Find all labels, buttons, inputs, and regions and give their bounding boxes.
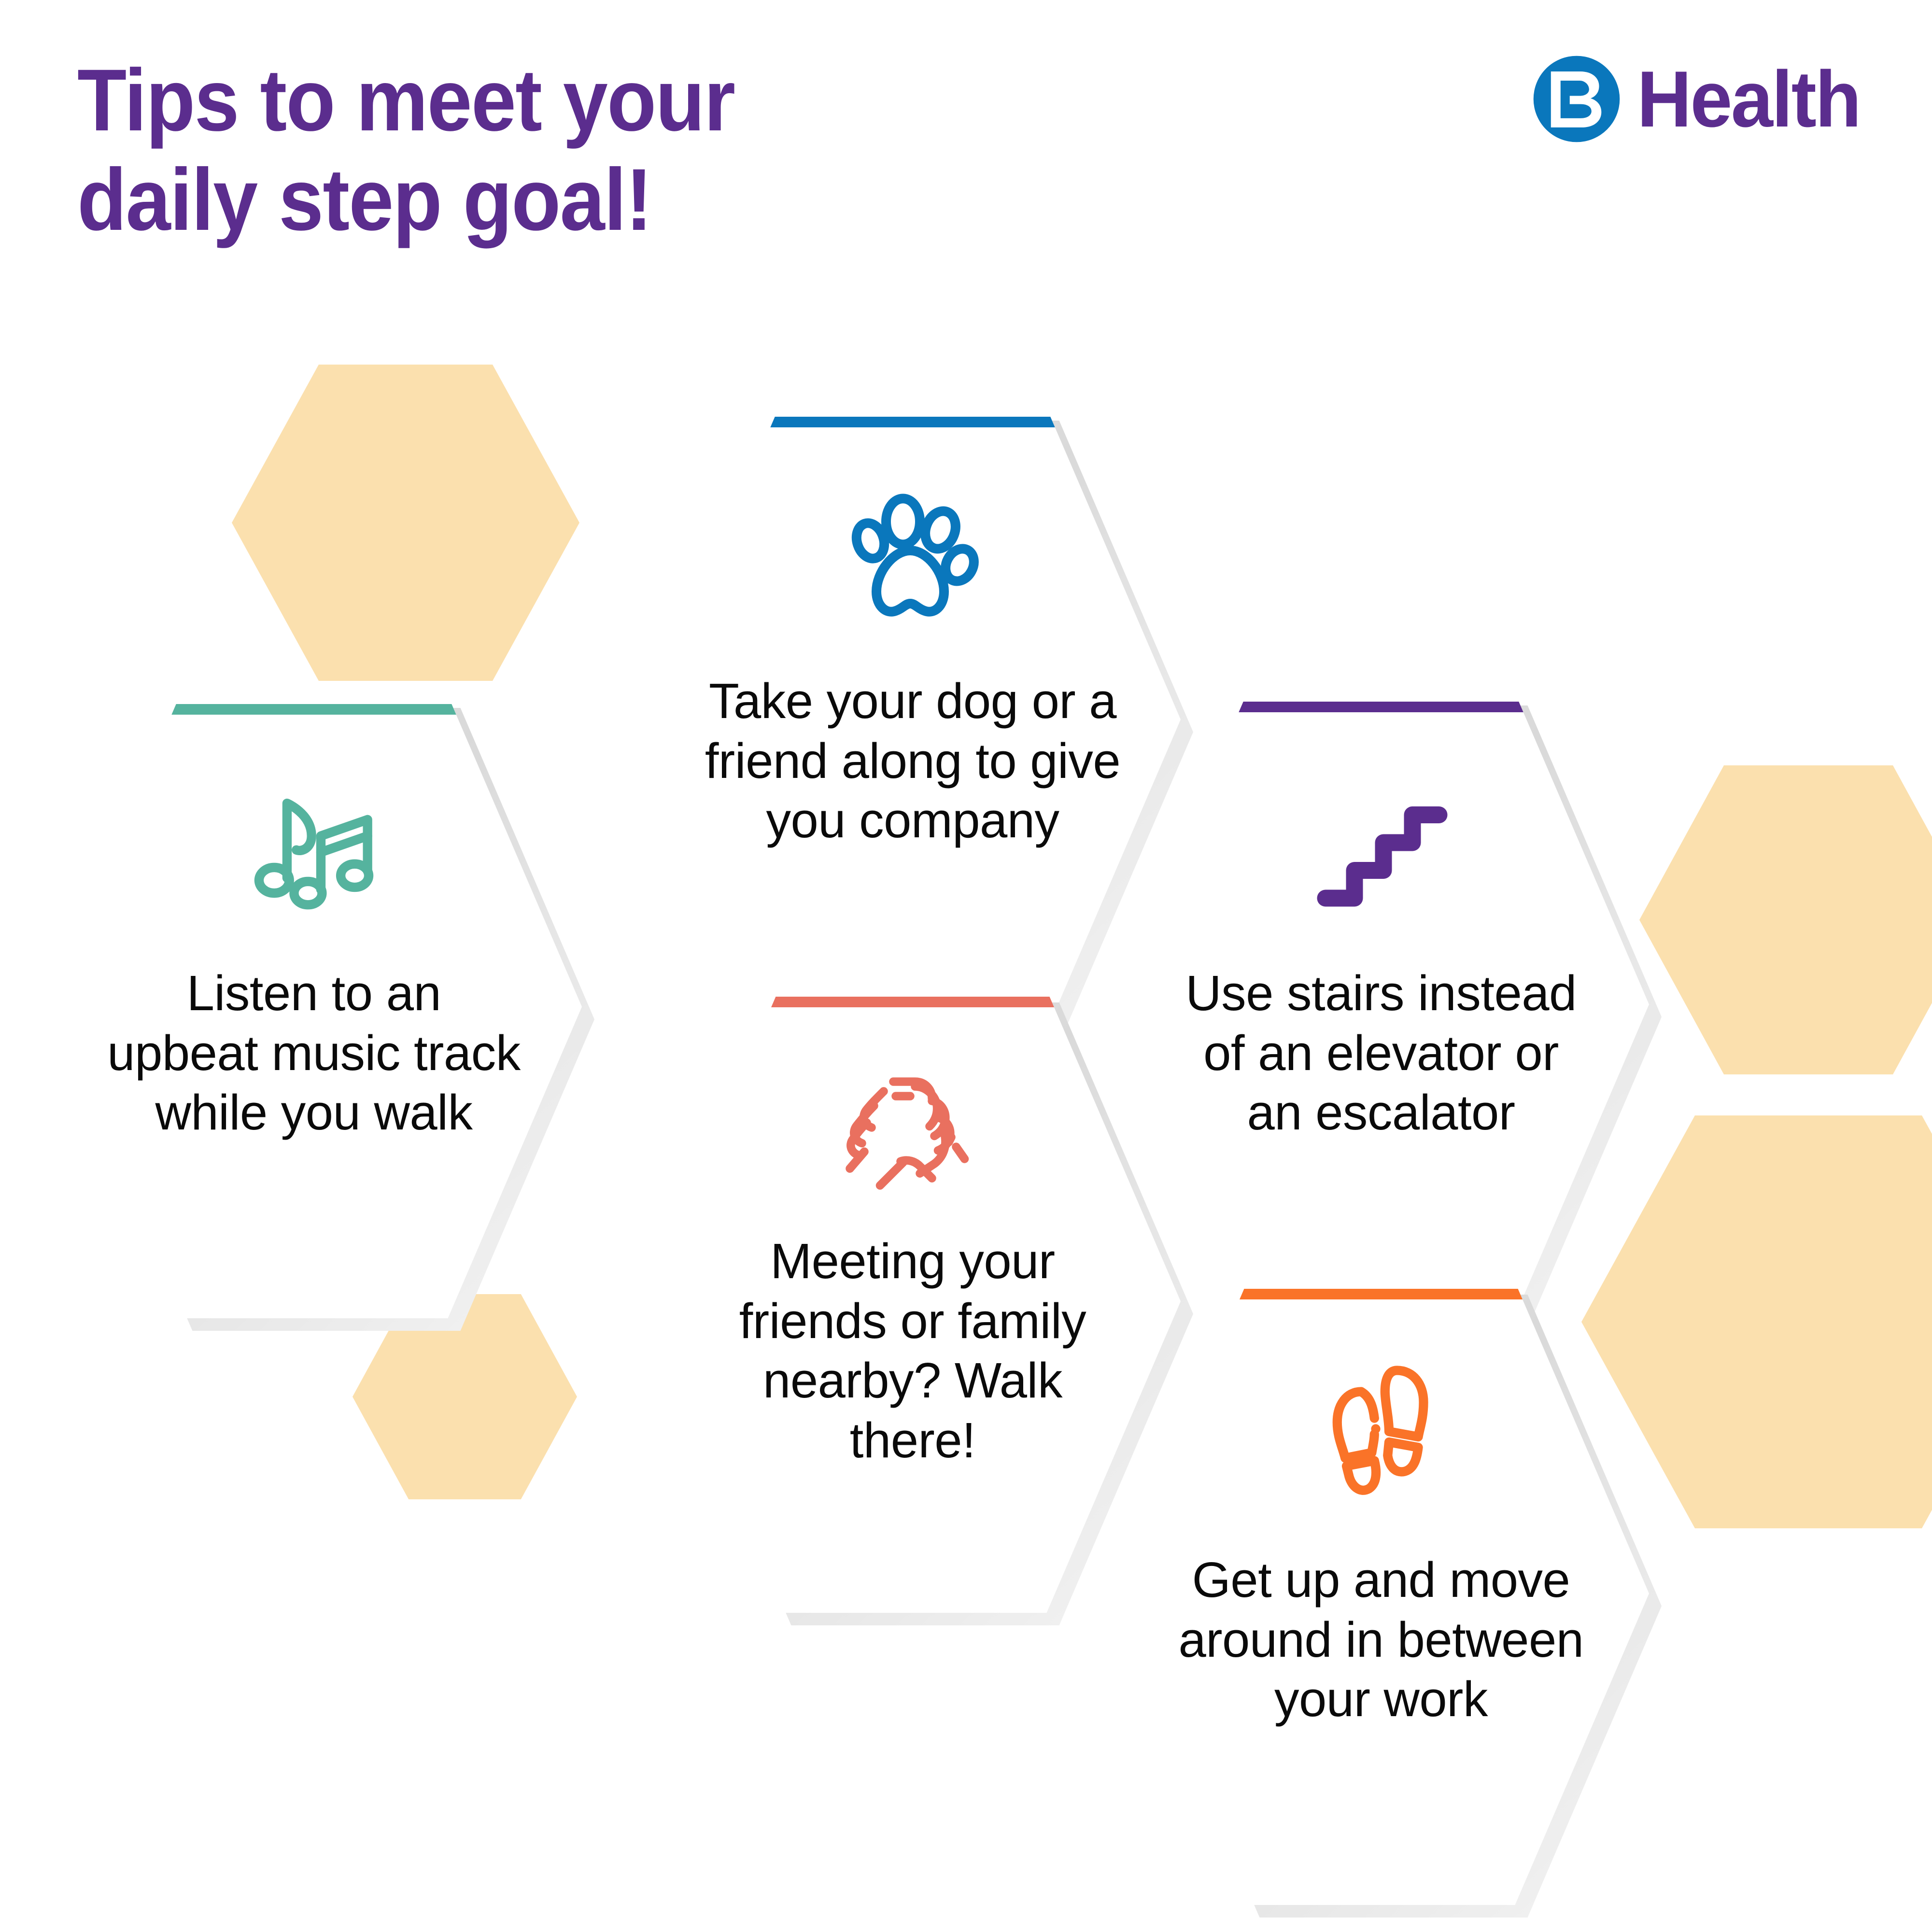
tip-card-dog[interactable]: Take your dog or a friend along to give … bbox=[645, 408, 1181, 1031]
accent-bar bbox=[1224, 702, 1538, 712]
accent-bar bbox=[756, 997, 1070, 1007]
tip-card-footprints[interactable]: Get up and move around in between your w… bbox=[1113, 1282, 1649, 1905]
footprints-icon bbox=[1299, 1354, 1463, 1514]
hexagon-grid: Take your dog or a friend along to give … bbox=[0, 0, 1932, 1932]
infographic-canvas: Tips to meet your daily step goal! Healt… bbox=[0, 0, 1932, 1932]
stairs-icon bbox=[1309, 782, 1453, 927]
card-text: Take your dog or a friend along to give … bbox=[688, 671, 1137, 850]
card-text: Listen to an upbeat music track while yo… bbox=[82, 963, 546, 1142]
card-text: Use stairs instead of an elevator or an … bbox=[1152, 963, 1610, 1142]
card-text: Meeting your friends or family nearby? W… bbox=[695, 1231, 1130, 1470]
card-text: Get up and move around in between your w… bbox=[1144, 1550, 1618, 1729]
decorative-hexagon-top-left bbox=[232, 365, 579, 681]
music-notes-icon bbox=[244, 782, 384, 922]
decorative-hexagon-right-upper bbox=[1639, 765, 1932, 1074]
accent-bar bbox=[1224, 1289, 1538, 1299]
tip-card-handshake[interactable]: Meeting your friends or family nearby? W… bbox=[645, 990, 1181, 1613]
tip-card-music[interactable]: Listen to an upbeat music track while yo… bbox=[46, 695, 582, 1318]
handshake-icon bbox=[838, 1065, 987, 1210]
accent-bar bbox=[756, 417, 1070, 427]
tip-card-stairs[interactable]: Use stairs instead of an elevator or an … bbox=[1113, 693, 1649, 1316]
paw-print-icon bbox=[840, 490, 985, 635]
accent-bar bbox=[157, 704, 471, 715]
